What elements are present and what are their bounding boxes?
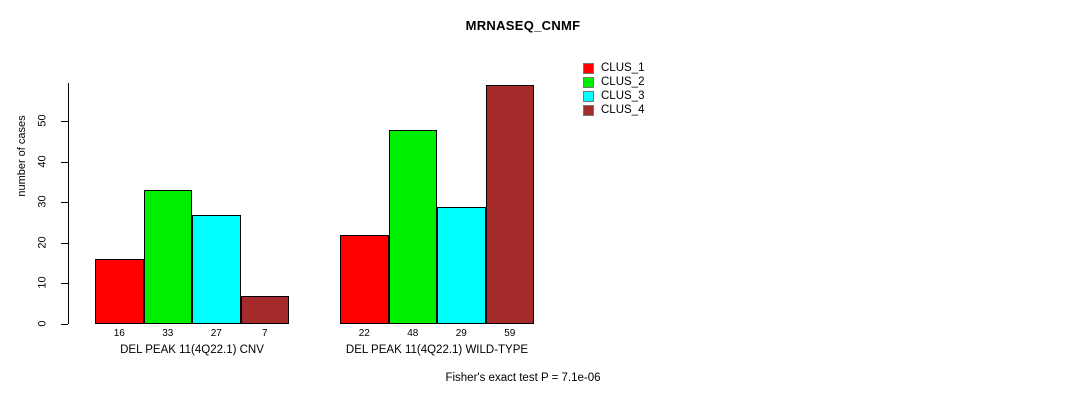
legend-swatch-clus-2 (583, 77, 594, 88)
bar (437, 207, 486, 324)
bar-value-label: 29 (437, 328, 486, 339)
plot-area (0, 0, 1090, 324)
bar-value-label: 33 (144, 328, 193, 339)
legend-swatch-clus-4 (583, 105, 594, 116)
barplot-figure: MRNASEQ_CNMF number of cases 01020304050… (0, 0, 1090, 400)
bar (144, 190, 193, 324)
bar-value-label: 7 (241, 328, 290, 339)
legend-label-clus-1: CLUS_1 (601, 62, 644, 74)
legend-label-clus-2: CLUS_2 (601, 76, 644, 88)
bar-value-label: 59 (486, 328, 535, 339)
bar-value-label: 16 (95, 328, 144, 339)
legend-label-clus-3: CLUS_3 (601, 90, 644, 102)
statistical-test-note: Fisher's exact test P = 7.1e-06 (0, 372, 1090, 384)
bar (340, 235, 389, 324)
bar (95, 259, 144, 324)
legend: CLUS_1 CLUS_2 CLUS_3 CLUS_4 (583, 61, 644, 117)
y-axis-tick (61, 324, 68, 325)
legend-swatch-clus-1 (583, 63, 594, 74)
legend-label-clus-4: CLUS_4 (601, 104, 644, 116)
statistical-test-text: Fisher's exact test P = 7.1e-06 (445, 372, 600, 384)
bar (241, 296, 290, 324)
bar (389, 130, 438, 324)
legend-item: CLUS_4 (583, 103, 644, 117)
bar (192, 215, 241, 324)
legend-item: CLUS_3 (583, 89, 644, 103)
bars-container (0, 0, 1090, 324)
bar-value-label: 48 (389, 328, 438, 339)
legend-item: CLUS_1 (583, 61, 644, 75)
bar-value-label: 22 (340, 328, 389, 339)
bar (486, 85, 535, 324)
bar-value-label: 27 (192, 328, 241, 339)
legend-swatch-clus-3 (583, 91, 594, 102)
legend-item: CLUS_2 (583, 75, 644, 89)
x-axis-group-label: DEL PEAK 11(4Q22.1) WILD-TYPE (287, 344, 587, 356)
